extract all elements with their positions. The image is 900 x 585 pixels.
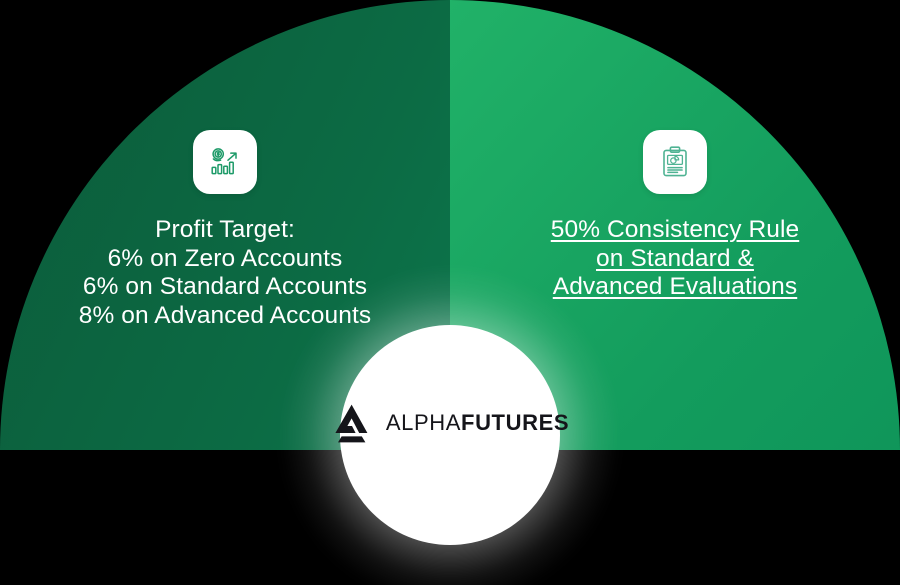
profit-target-line-4: 8% on Advanced Accounts bbox=[0, 302, 450, 331]
consistency-rule-line-2: on Standard & bbox=[450, 245, 900, 274]
profit-target-line-1: Profit Target: bbox=[0, 216, 450, 245]
logo-word-alpha: ALPHA bbox=[386, 410, 461, 435]
alpha-futures-triangle-mark bbox=[331, 403, 377, 443]
profit-target-line-2: 6% on Zero Accounts bbox=[0, 245, 450, 274]
profit-target-line-3: 6% on Standard Accounts bbox=[0, 273, 450, 302]
profit-target-text: Profit Target: 6% on Zero Accounts 6% on… bbox=[0, 216, 450, 330]
promo-graphic: Profit Target: 6% on Zero Accounts 6% on… bbox=[0, 0, 900, 585]
money-growth-chart-icon bbox=[193, 130, 257, 194]
logo-wordmark: ALPHAFUTURES bbox=[386, 410, 569, 436]
consistency-rule-line-3: Advanced Evaluations bbox=[450, 273, 900, 302]
consistency-rule-link[interactable]: 50% Consistency Rule on Standard & Advan… bbox=[450, 216, 900, 302]
logo-word-futures: FUTURES bbox=[461, 410, 569, 435]
brand-badge: ALPHAFUTURES bbox=[340, 325, 560, 545]
consistency-rule-line-1: 50% Consistency Rule bbox=[450, 216, 900, 245]
alpha-futures-logo: ALPHAFUTURES bbox=[331, 403, 569, 443]
clipboard-report-icon bbox=[643, 130, 707, 194]
